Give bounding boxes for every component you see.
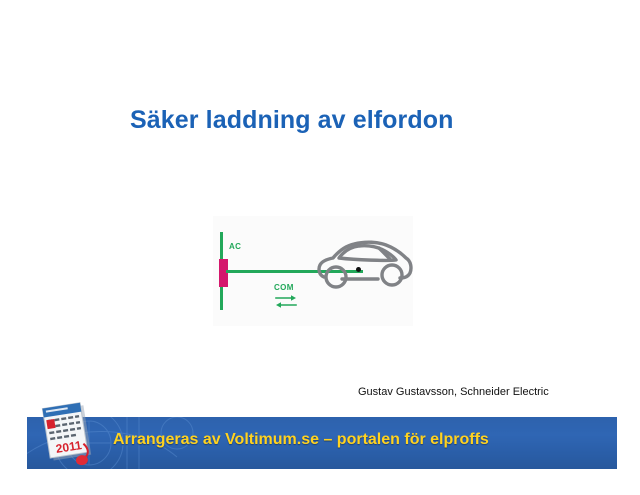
charging-outlet	[219, 259, 228, 287]
presenter-credit: Gustav Gustavsson, Schneider Electric	[358, 386, 549, 398]
bidirectional-arrows-icon	[275, 293, 297, 310]
charging-diagram: AC COM	[213, 216, 413, 326]
sponsor-banner: Arrangeras av Voltimum.se – portalen för…	[27, 417, 617, 469]
calendar-2011-logo-icon: 2011	[38, 402, 98, 470]
communication-label: COM	[274, 283, 294, 292]
presentation-slide: Säker laddning av elfordon AC COM	[0, 0, 640, 495]
charging-port-dot	[356, 267, 361, 272]
electric-car-icon	[316, 239, 414, 292]
banner-label: Arrangeras av Voltimum.se – portalen för…	[113, 431, 489, 449]
page-title: Säker laddning av elfordon	[130, 106, 600, 135]
ac-supply-label: AC	[229, 242, 241, 251]
